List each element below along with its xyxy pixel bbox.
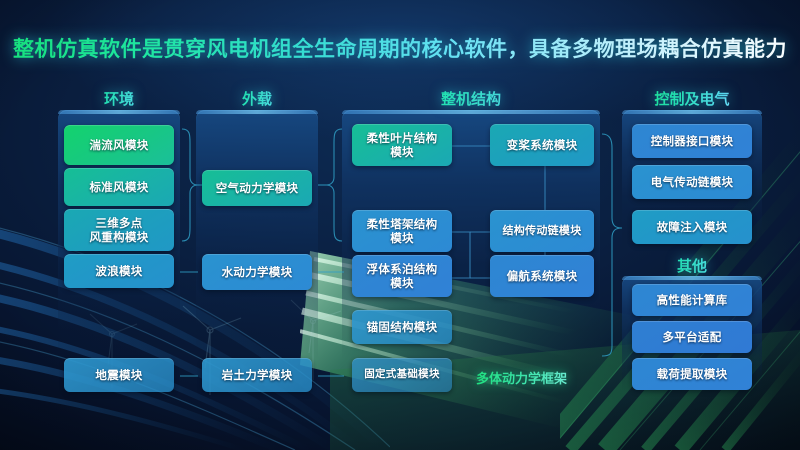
module-label: 浮体系泊结构 模块 <box>363 262 442 291</box>
module-label-line2: 模块 <box>390 276 414 290</box>
module-label: 标准风模块 <box>86 180 153 194</box>
module-box-floating-mooring[interactable]: 浮体系泊结构 模块 <box>352 255 452 297</box>
module-label: 电气传动链模块 <box>647 175 738 189</box>
module-label-line1: 柔性叶片结构 <box>367 131 438 145</box>
module-box-hydrodynamics[interactable]: 水动力学模块 <box>202 254 312 290</box>
module-label: 地震模块 <box>91 368 146 382</box>
slide-canvas: 整机仿真软件是贯穿风电机组全生命周期的核心软件，具备多物理场耦合仿真能力 环境 … <box>0 0 800 450</box>
module-box-flexible-tower[interactable]: 柔性塔架结构 模块 <box>352 210 452 252</box>
module-box-load-extraction[interactable]: 载荷提取模块 <box>632 358 752 390</box>
module-label: 三维多点 风重构模块 <box>86 216 153 245</box>
connector-load-to-structure <box>318 125 344 245</box>
module-box-fault-injection[interactable]: 故障注入模块 <box>632 210 752 244</box>
page-title: 整机仿真软件是贯穿风电机组全生命周期的核心软件，具备多物理场耦合仿真能力 <box>0 33 800 63</box>
module-box-yaw-system[interactable]: 偏航系统模块 <box>490 255 594 297</box>
module-label: 结构传动链模块 <box>498 224 585 238</box>
framework-caption: 多体动力学框架 <box>476 368 567 387</box>
module-box-flexible-blade[interactable]: 柔性叶片结构 模块 <box>352 124 452 166</box>
module-label: 故障注入模块 <box>653 220 732 234</box>
module-label: 偏航系统模块 <box>503 269 582 283</box>
module-label: 湍流风模块 <box>86 138 153 152</box>
module-box-fixed-foundation[interactable]: 固定式基础模块 <box>352 358 452 392</box>
module-label-line1: 三维多点 <box>95 216 142 230</box>
module-box-aerodynamics[interactable]: 空气动力学模块 <box>202 170 312 206</box>
module-box-multiplatform[interactable]: 多平台适配 <box>632 321 752 353</box>
module-box-earthquake[interactable]: 地震模块 <box>64 358 174 392</box>
module-box-wave[interactable]: 波浪模块 <box>64 254 174 288</box>
module-label: 柔性塔架结构 模块 <box>363 217 442 246</box>
module-label-line1: 浮体系泊结构 <box>367 262 438 276</box>
module-box-standard-wind[interactable]: 标准风模块 <box>64 168 174 206</box>
module-box-hpc-library[interactable]: 高性能计算库 <box>632 284 752 316</box>
module-label: 高性能计算库 <box>653 293 732 307</box>
module-label: 波浪模块 <box>91 264 146 278</box>
module-label: 岩土力学模块 <box>218 368 297 382</box>
module-label-line1: 柔性塔架结构 <box>367 217 438 231</box>
module-box-pitch-system[interactable]: 变桨系统模块 <box>490 124 594 166</box>
column-header-other: 其他 <box>622 255 762 276</box>
module-box-geomechanics[interactable]: 岩土力学模块 <box>202 358 312 392</box>
module-label: 控制器接口模块 <box>647 134 738 148</box>
module-label: 载荷提取模块 <box>653 367 732 381</box>
module-label: 空气动力学模块 <box>212 181 303 195</box>
column-header-machine-structure: 整机结构 <box>342 88 600 109</box>
column-header-control-electric: 控制及电气 <box>622 88 762 109</box>
column-header-environment: 环境 <box>58 88 180 109</box>
module-label: 多平台适配 <box>659 330 726 344</box>
column-header-external-load: 外载 <box>196 88 318 109</box>
module-box-anchor-structure[interactable]: 锚固结构模块 <box>352 310 452 344</box>
module-label: 柔性叶片结构 模块 <box>363 131 442 160</box>
module-label-line2: 模块 <box>390 145 414 159</box>
module-label-line2: 模块 <box>390 231 414 245</box>
module-label: 锚固结构模块 <box>363 320 442 334</box>
module-label: 水动力学模块 <box>218 265 297 279</box>
module-box-controller-interface[interactable]: 控制器接口模块 <box>632 124 752 158</box>
connector-hydro-to-float <box>318 270 344 274</box>
module-box-structural-drivetrain[interactable]: 结构传动链模块 <box>490 210 594 252</box>
connector-structure-to-control <box>600 130 624 360</box>
module-box-3d-multipoint-wind[interactable]: 三维多点 风重构模块 <box>64 209 174 251</box>
module-label-line2: 风重构模块 <box>90 230 149 244</box>
module-box-turbulent-wind[interactable]: 湍流风模块 <box>64 125 174 165</box>
module-label: 变桨系统模块 <box>503 138 582 152</box>
module-label: 固定式基础模块 <box>360 368 444 381</box>
panel-external-load <box>196 110 318 360</box>
module-box-electric-drivetrain[interactable]: 电气传动链模块 <box>632 165 752 199</box>
